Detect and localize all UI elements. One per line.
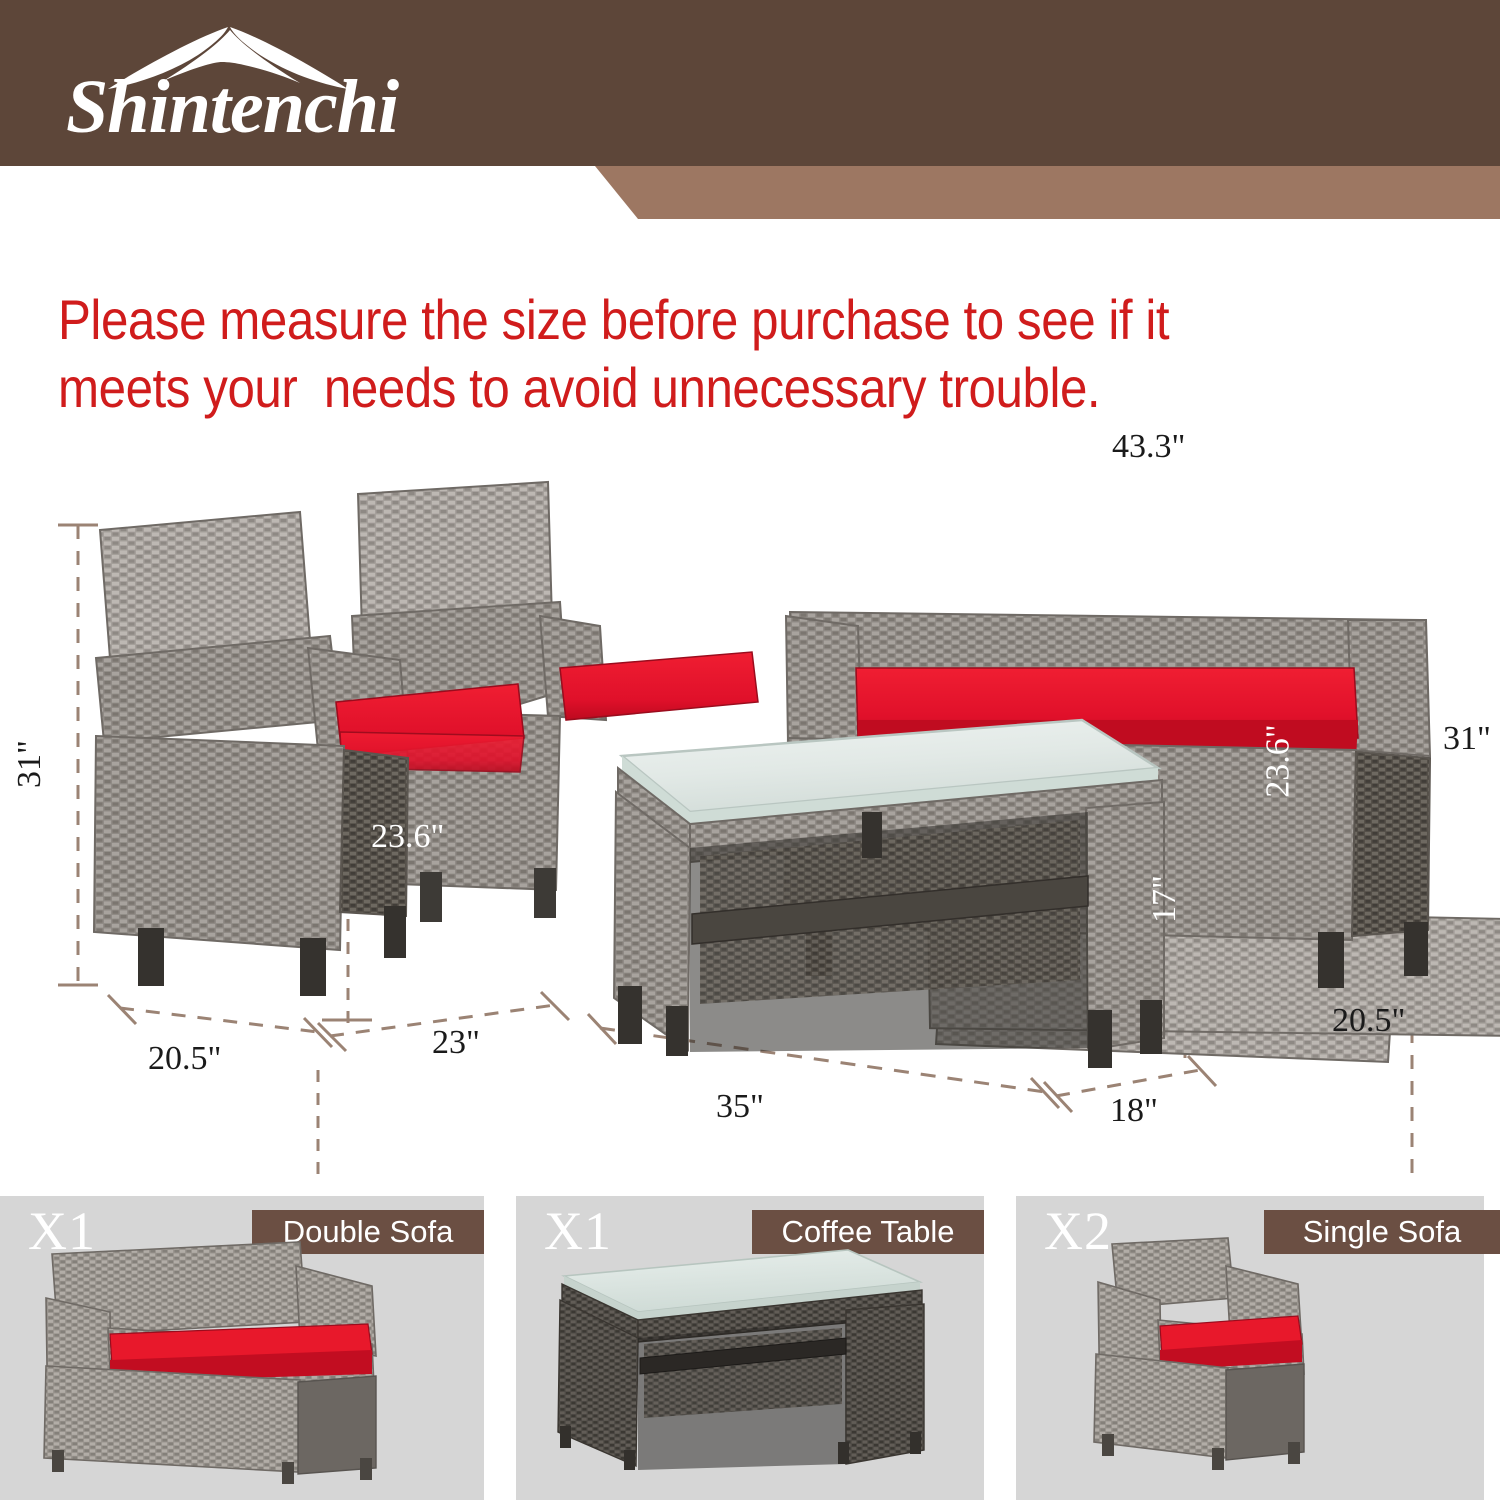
- headline-line-2: meets your needs to avoid unnecessary tr…: [58, 356, 1100, 419]
- dim-single-sofa-height: 31": [11, 740, 49, 788]
- dim-single-sofa-depth: 20.5": [148, 1040, 221, 1078]
- single-sofa-illustration: [1016, 1236, 1484, 1500]
- dimension-diagram: 43.3" 31" 31" 23.6" 23.6" 17" 20.5" 23" …: [0, 420, 1500, 1180]
- dim-loveseat-width: 43.3": [1112, 428, 1185, 466]
- page-headline: Please measure the size before purchase …: [58, 286, 1290, 423]
- coffee-table: [614, 720, 1164, 1068]
- dim-loveseat-depth: 20.5": [1332, 1002, 1405, 1040]
- dim-loveseat-seat-depth: 23.6": [1260, 724, 1298, 797]
- dim-single-sofa-width: 23": [432, 1024, 480, 1062]
- content-card-double-sofa: X1 Double Sofa: [0, 1196, 484, 1500]
- headline-line-1: Please measure the size before purchase …: [58, 288, 1169, 351]
- brand-logo: Shintenchi: [48, 22, 408, 152]
- content-card-coffee-table: X1 Coffee Table: [516, 1196, 984, 1500]
- dim-table-height: 17": [1146, 875, 1184, 923]
- double-sofa-illustration: [0, 1236, 484, 1500]
- content-card-single-sofa: X2 Single Sofa: [1016, 1196, 1484, 1500]
- dim-single-sofa-seat-width: 23.6": [371, 818, 444, 856]
- dim-loveseat-height: 31": [1443, 720, 1491, 758]
- dim-table-depth: 18": [1110, 1092, 1158, 1130]
- package-contents: X1 Double Sofa: [0, 1196, 1500, 1500]
- dim-table-width: 35": [716, 1088, 764, 1126]
- coffee-table-illustration: [516, 1236, 984, 1500]
- product-infographic: Shintenchi Please measure the size befor…: [0, 0, 1500, 1500]
- svg-text:Shintenchi: Shintenchi: [66, 65, 399, 149]
- header-banner-light: [0, 166, 1500, 219]
